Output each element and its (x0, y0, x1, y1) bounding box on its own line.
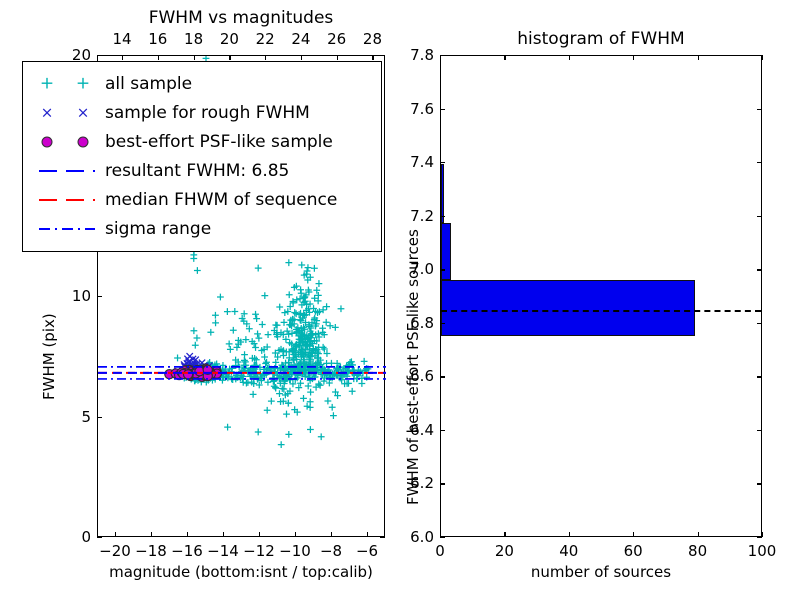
hist-x-tick-label: 100 (748, 542, 777, 560)
figure-canvas: FWHM vs magnitudes 1416182022242628 −20−… (0, 0, 800, 600)
bottom-tick-label: −14 (207, 542, 239, 560)
legend-item-label: sigma range (99, 219, 211, 239)
cross-icon: × (41, 105, 54, 120)
line-sample-icon (39, 198, 95, 202)
hist-y-tick-mark-right (757, 537, 762, 538)
top-tick-label: 20 (220, 30, 239, 48)
x-tick-mark (115, 532, 116, 537)
plus-icon: + (40, 75, 54, 92)
y-tick-mark (97, 537, 102, 538)
top-tick-label: 28 (363, 30, 382, 48)
legend-item[interactable]: ++all sample (33, 69, 371, 98)
hist-x-tick-label: 40 (559, 542, 578, 560)
top-tick-mark (301, 55, 302, 60)
legend-item[interactable]: ××sample for rough FWHM (33, 98, 371, 127)
histogram-bar (441, 280, 695, 336)
hist-x-tick-mark (569, 532, 570, 537)
legend-marker-cross: ×× (33, 102, 99, 124)
line-sample-icon (39, 169, 95, 173)
bottom-tick-label: −20 (99, 542, 131, 560)
hist-y-tick-mark-right (757, 162, 762, 163)
hist-x-tick-mark-top (569, 55, 570, 60)
hist-y-tick-mark (440, 430, 445, 431)
hist-x-tick-mark-top (698, 55, 699, 60)
hist-x-tick-label: 60 (624, 542, 643, 560)
hist-y-tick-mark (440, 216, 445, 217)
top-tick-label: 22 (256, 30, 275, 48)
x-tick-mark (331, 532, 332, 537)
top-tick-mark (372, 55, 373, 60)
plus-icon: + (76, 75, 90, 92)
left-y-tick-label: 5 (55, 408, 91, 426)
y-tick-mark-right (380, 537, 385, 538)
legend-item-label: all sample (99, 74, 192, 94)
hist-y-tick-mark (440, 537, 445, 538)
hist-x-axis-label: number of sources (440, 563, 762, 581)
hist-x-tick-mark-top (762, 55, 763, 60)
circle-icon (78, 136, 89, 147)
top-tick-mark (158, 55, 159, 60)
hist-y-tick-mark-right (757, 55, 762, 56)
legend-marker-plus: ++ (33, 73, 99, 95)
hist-y-tick-mark (440, 55, 445, 56)
bottom-tick-label: −6 (356, 542, 378, 560)
legend-item-label: resultant FWHM: 6.85 (99, 161, 289, 181)
legend-item[interactable]: best-effort PSF-like sample (33, 127, 371, 156)
hist-y-tick-mark (440, 162, 445, 163)
hist-x-tick-mark-top (633, 55, 634, 60)
bottom-tick-label: −16 (171, 542, 203, 560)
hist-y-tick-label: 7.8 (392, 46, 434, 64)
y-tick-mark-right (380, 417, 385, 418)
hist-x-tick-label: 20 (495, 542, 514, 560)
hist-y-axis-label: FWHM of best-effort PSF-like sources (404, 229, 422, 505)
left-x-axis-label: magnitude (bottom:isnt / top:calib) (97, 563, 385, 581)
top-tick-label: 14 (112, 30, 131, 48)
hist-x-tick-mark (698, 532, 699, 537)
top-tick-label: 26 (327, 30, 346, 48)
x-tick-mark (223, 532, 224, 537)
hist-x-tick-label: 80 (688, 542, 707, 560)
hist-y-tick-mark-right (757, 430, 762, 431)
hist-y-tick-label: 6.0 (392, 528, 434, 546)
legend-item-label: sample for rough FWHM (99, 103, 310, 123)
y-tick-mark (97, 417, 102, 418)
left-panel-title: FWHM vs magnitudes (97, 8, 385, 28)
y-tick-mark (97, 296, 102, 297)
hist-y-tick-mark (440, 483, 445, 484)
top-tick-label: 24 (291, 30, 310, 48)
legend-item[interactable]: median FHWM of sequence (33, 185, 371, 214)
bottom-tick-label: −10 (279, 542, 311, 560)
hist-y-tick-mark-right (757, 109, 762, 110)
cross-icon: × (77, 105, 90, 120)
hist-y-tick-mark (440, 376, 445, 377)
top-tick-label: 16 (148, 30, 167, 48)
legend-item-label: best-effort PSF-like sample (99, 132, 333, 152)
hist-y-tick-label: 7.2 (392, 207, 434, 225)
hist-x-tick-mark (762, 532, 763, 537)
hist-x-tick-mark-top (504, 55, 505, 60)
bottom-tick-label: −18 (135, 542, 167, 560)
hist-y-tick-mark-right (757, 323, 762, 324)
legend-box: ++all sample××sample for rough FWHMbest-… (22, 61, 382, 252)
y-tick-mark (97, 55, 102, 56)
hist-x-tick-mark (504, 532, 505, 537)
left-y-tick-label: 10 (55, 287, 91, 305)
hist-y-tick-label: 7.4 (392, 153, 434, 171)
hist-y-tick-mark (440, 109, 445, 110)
legend-marker-circle (33, 131, 99, 153)
bottom-tick-label: −12 (243, 542, 275, 560)
legend-marker-dashed-red (33, 189, 99, 211)
x-tick-mark (259, 532, 260, 537)
hist-x-tick-mark (633, 532, 634, 537)
hist-y-tick-mark-right (757, 269, 762, 270)
legend-item[interactable]: sigma range (33, 214, 371, 243)
top-tick-label: 18 (184, 30, 203, 48)
y-tick-mark-right (380, 55, 385, 56)
hist-x-tick-label: 0 (435, 542, 445, 560)
top-tick-mark (229, 55, 230, 60)
x-tick-mark (295, 532, 296, 537)
histogram-of-fwhm-axes (440, 55, 762, 537)
top-tick-mark (122, 55, 123, 60)
histogram-bar (441, 164, 444, 223)
hist-y-tick-mark-right (757, 483, 762, 484)
legend-marker-dashdot-blue (33, 218, 99, 240)
top-tick-mark (265, 55, 266, 60)
legend-item-label: median FHWM of sequence (99, 190, 337, 210)
top-tick-mark (337, 55, 338, 60)
legend-item[interactable]: resultant FWHM: 6.85 (33, 156, 371, 185)
histogram-bar (441, 223, 451, 279)
hist-y-tick-mark (440, 323, 445, 324)
left-y-tick-label: 0 (55, 528, 91, 546)
hist-y-tick-label: 7.6 (392, 100, 434, 118)
bottom-tick-label: −8 (320, 542, 342, 560)
x-tick-mark (367, 532, 368, 537)
hist-y-tick-mark-right (757, 216, 762, 217)
top-tick-mark (194, 55, 195, 60)
y-tick-mark-right (380, 296, 385, 297)
hist-y-tick-mark-right (757, 376, 762, 377)
circle-icon (42, 136, 53, 147)
x-tick-mark (151, 532, 152, 537)
left-y-axis-label: FWHM (pix) (40, 313, 58, 400)
resultant-fwhm-reference-line (441, 310, 761, 312)
hist-y-tick-mark (440, 269, 445, 270)
x-tick-mark (187, 532, 188, 537)
legend-marker-dashed-blue (33, 160, 99, 182)
right-panel-title: histogram of FWHM (440, 29, 762, 49)
line-sample-icon (39, 227, 95, 231)
